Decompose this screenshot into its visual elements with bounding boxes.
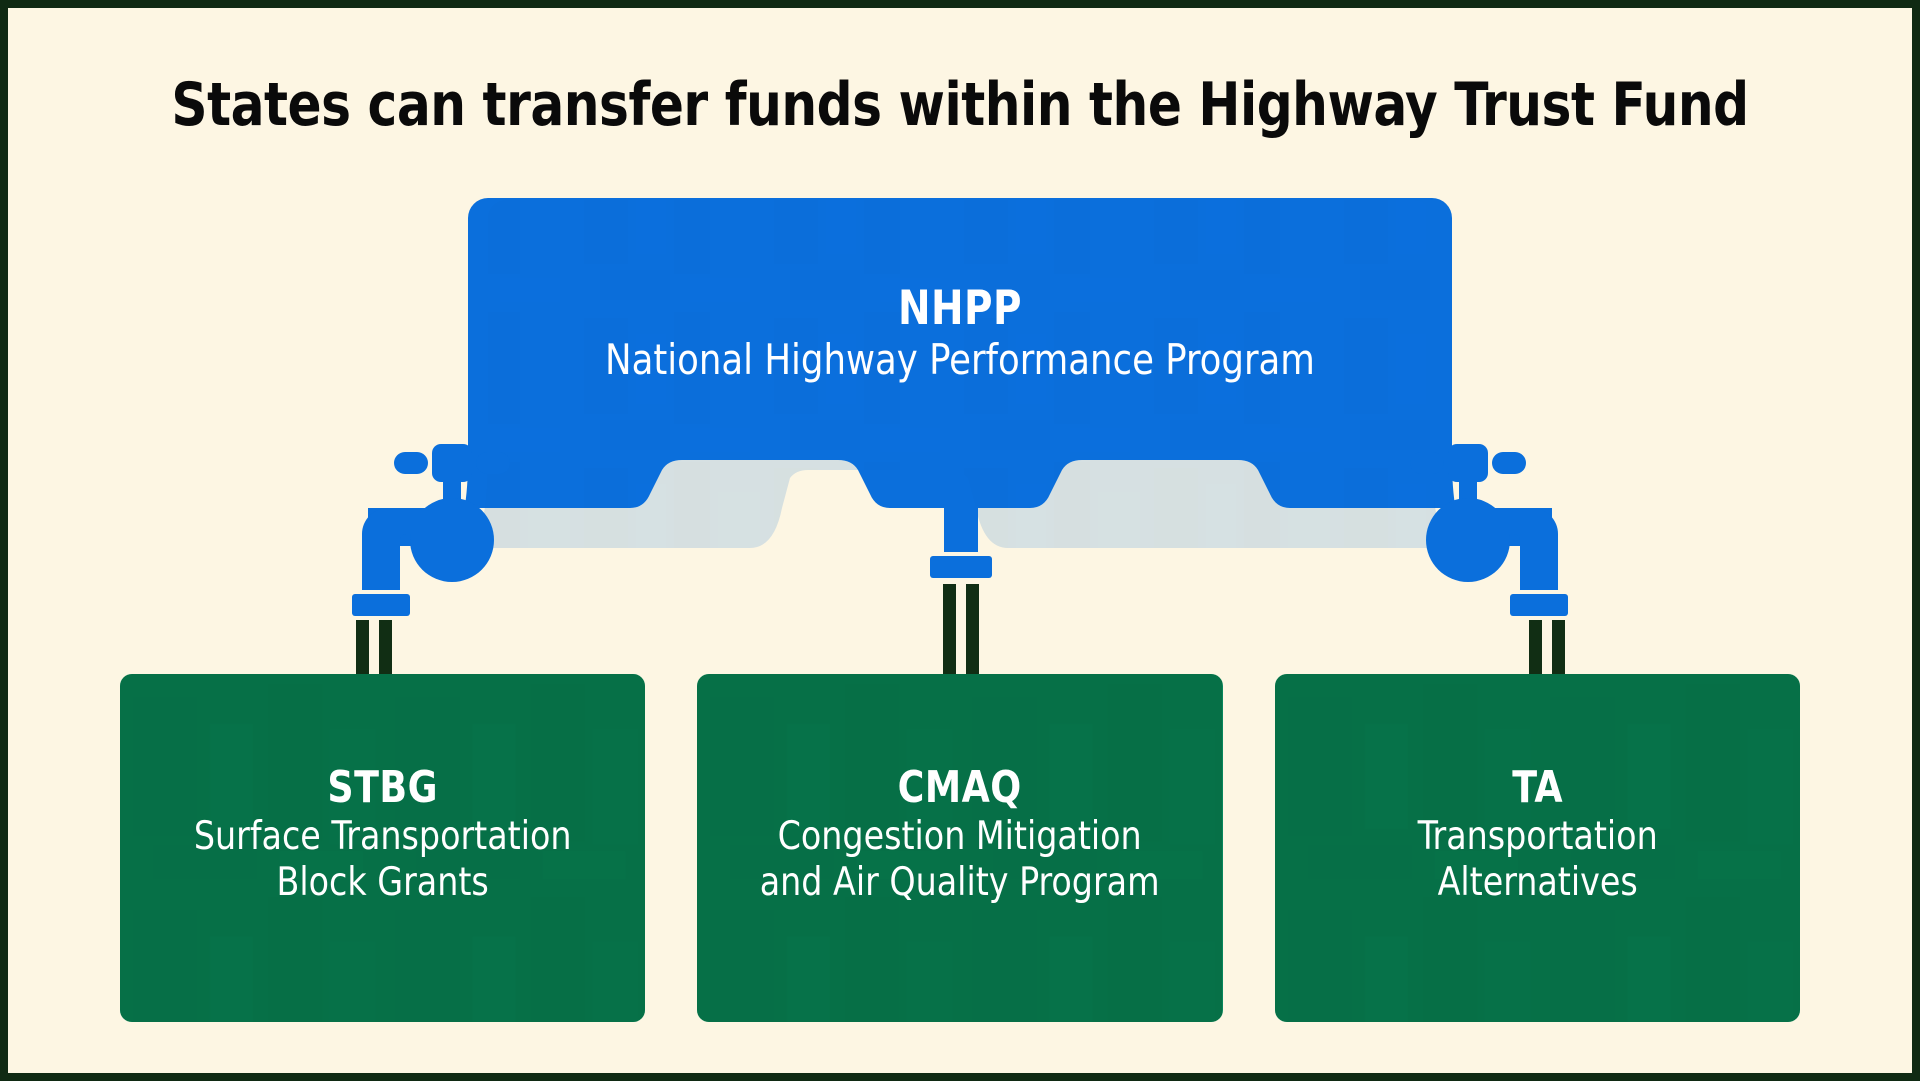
card-acronym-ta: TA xyxy=(1296,766,1779,810)
infographic-canvas: States can transfer funds within the Hig… xyxy=(8,8,1912,1073)
card-full-name-cmaq: Congestion Mitigation and Air Quality Pr… xyxy=(710,814,1209,905)
infographic-root: States can transfer funds within the Hig… xyxy=(0,0,1920,1081)
card-acronym-cmaq: CMAQ xyxy=(718,766,1201,810)
target-card-cmaq[interactable]: CMAQ Congestion Mitigation and Air Quali… xyxy=(697,674,1222,1022)
target-card-stbg[interactable]: STBG Surface Transportation Block Grants xyxy=(120,674,645,1022)
card-full-name-ta: Transportation Alternatives xyxy=(1288,814,1787,905)
card-acronym-stbg: STBG xyxy=(141,766,624,810)
card-full-name-stbg: Surface Transportation Block Grants xyxy=(133,814,632,905)
target-card-ta[interactable]: TA Transportation Alternatives xyxy=(1275,674,1800,1022)
target-program-cards: STBG Surface Transportation Block Grants… xyxy=(120,674,1800,1022)
faucet-icon-left xyxy=(352,444,510,616)
faucet-icon-right xyxy=(1410,444,1568,616)
